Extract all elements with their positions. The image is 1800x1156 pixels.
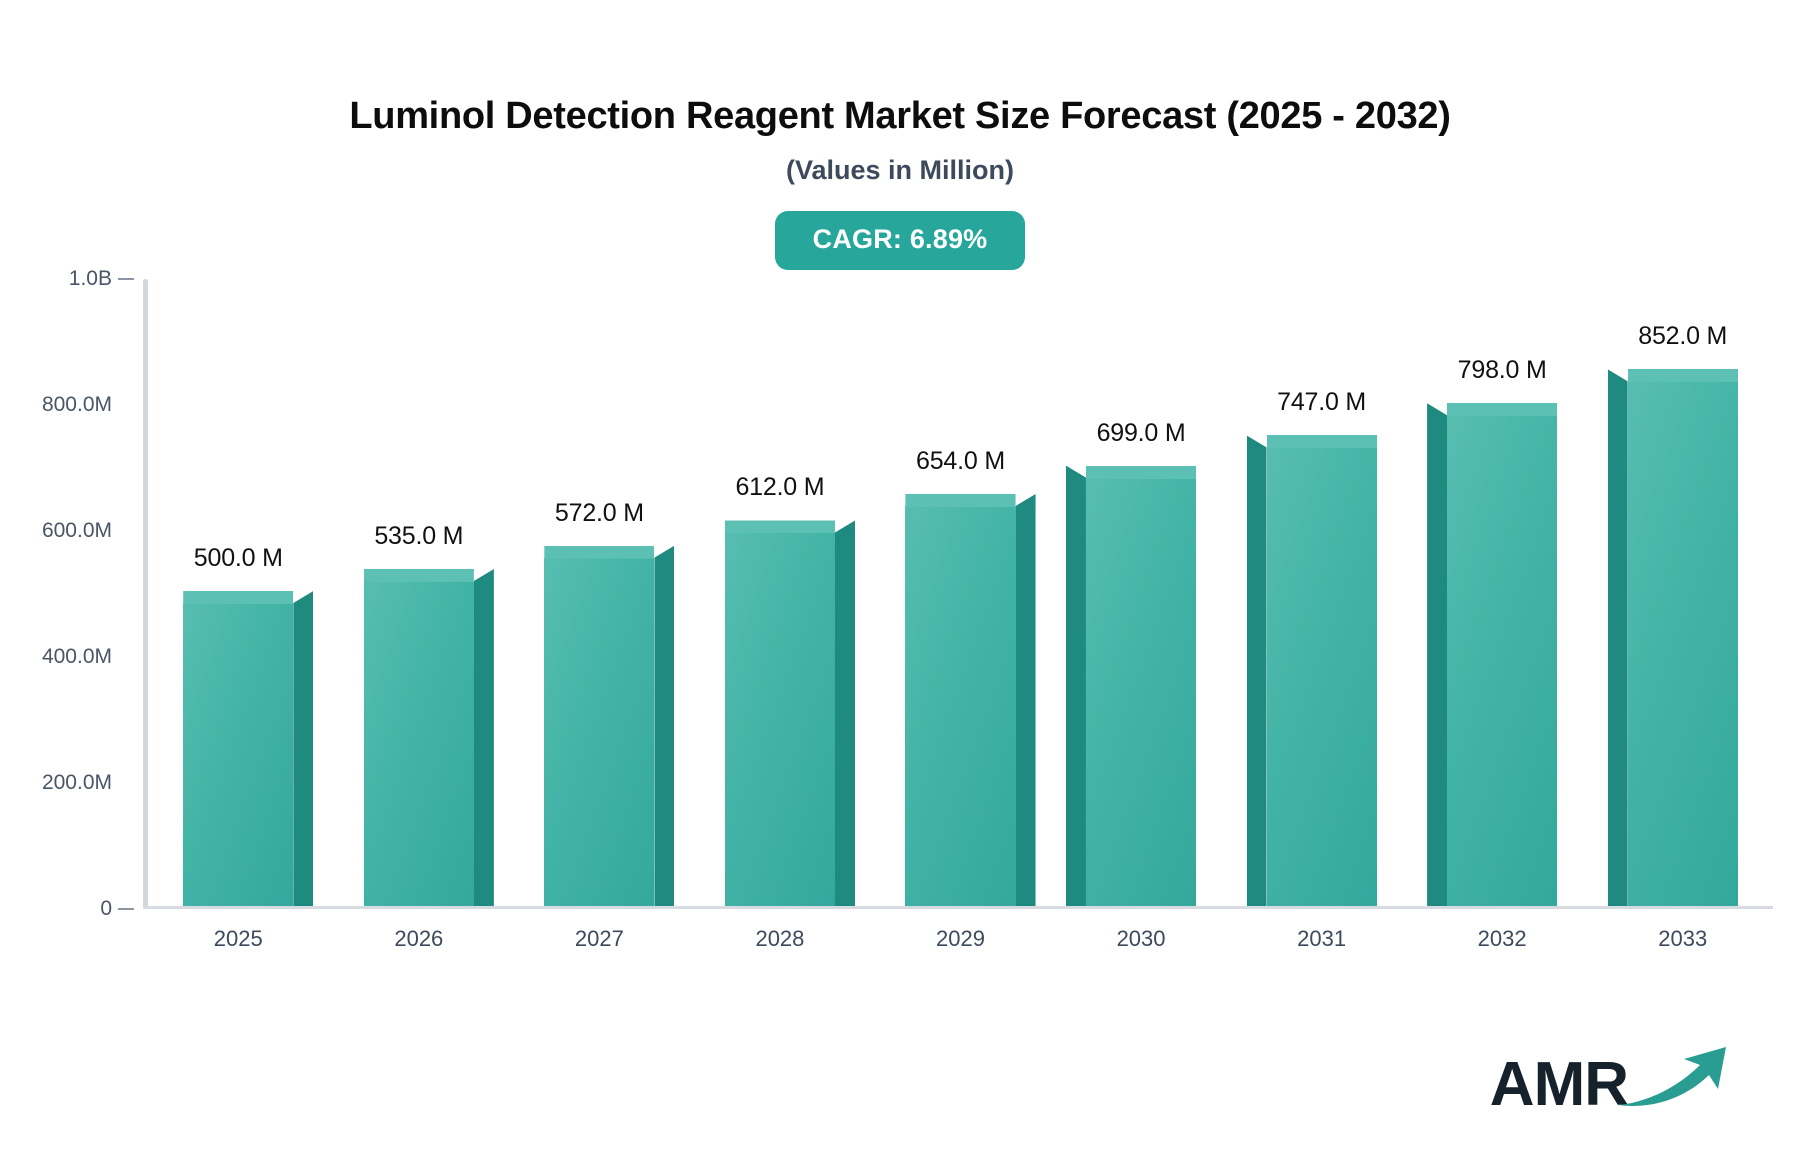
y-axis-tick-label: 800.0M xyxy=(0,393,112,417)
x-axis-labels: 202520262027202820292030203120322033 xyxy=(148,926,1773,966)
bar-group: 572.0 M xyxy=(509,276,690,906)
growth-arrow-icon xyxy=(1614,1043,1734,1114)
bar-side-face xyxy=(293,591,313,906)
y-axis-tick-label: 200.0M xyxy=(0,771,112,795)
bar-group: 500.0 M xyxy=(148,276,329,906)
bar-group: 852.0 M xyxy=(1592,276,1773,906)
bar-top-face xyxy=(364,569,474,582)
bar-side-face xyxy=(654,546,674,906)
x-axis-line xyxy=(143,906,1773,909)
bar[interactable] xyxy=(1628,369,1738,906)
bar-value-label: 699.0 M xyxy=(1097,419,1186,448)
bar-value-label: 747.0 M xyxy=(1277,388,1366,417)
chart-subtitle: (Values in Million) xyxy=(0,156,1800,186)
bar-side-face xyxy=(1016,494,1036,906)
bar-group: 747.0 M xyxy=(1231,276,1412,906)
bar[interactable] xyxy=(725,520,835,906)
bar[interactable] xyxy=(1447,403,1557,906)
bar-side-face xyxy=(1608,369,1628,906)
bar[interactable] xyxy=(905,494,1015,906)
bar[interactable] xyxy=(183,591,293,906)
bar-top-face xyxy=(1447,403,1557,416)
bar-value-label: 612.0 M xyxy=(735,473,824,502)
x-axis-tick-label: 2031 xyxy=(1297,926,1346,952)
y-axis-tick-mark xyxy=(118,278,134,280)
cagr-badge: CAGR: 6.89% xyxy=(775,211,1026,270)
cagr-badge-container: CAGR: 6.89% xyxy=(0,211,1800,270)
bar-front-face xyxy=(183,603,293,906)
amr-logo: AMR xyxy=(1490,1043,1734,1116)
bar-top-face xyxy=(905,494,1015,507)
bar-top-face xyxy=(183,591,293,604)
bar-front-face xyxy=(905,506,1015,906)
y-axis-tick-label: 0 xyxy=(0,897,112,921)
bar-top-face xyxy=(544,546,654,559)
bar-front-face xyxy=(1086,478,1196,906)
x-axis-tick-label: 2028 xyxy=(755,926,804,952)
x-axis-tick-label: 2032 xyxy=(1478,926,1527,952)
y-axis-tick-label: 1.0B xyxy=(0,267,112,291)
bar-value-label: 654.0 M xyxy=(916,447,1005,476)
bar-top-face xyxy=(1267,435,1377,448)
bar-value-label: 572.0 M xyxy=(555,499,644,528)
bar-front-face xyxy=(1447,415,1557,906)
bar[interactable] xyxy=(544,546,654,906)
bar-value-label: 852.0 M xyxy=(1638,322,1727,351)
bar-side-face xyxy=(1427,403,1447,906)
bar-value-label: 500.0 M xyxy=(194,544,283,573)
bar[interactable] xyxy=(1086,466,1196,906)
chart-header: Luminol Detection Reagent Market Size Fo… xyxy=(0,0,1800,185)
bar-group: 798.0 M xyxy=(1412,276,1593,906)
bar-side-face xyxy=(1066,466,1086,906)
x-axis-tick-label: 2027 xyxy=(575,926,624,952)
y-axis-tick-mark xyxy=(118,908,134,910)
chart-plot-area: 1.0B800.0M600.0M400.0M200.0M0 500.0 M535… xyxy=(0,276,1800,926)
bar-top-face xyxy=(725,520,835,533)
bar-group: 535.0 M xyxy=(329,276,510,906)
bar-front-face xyxy=(725,532,835,906)
bar[interactable] xyxy=(1267,435,1377,906)
bar-front-face xyxy=(544,558,654,906)
bar-group: 699.0 M xyxy=(1051,276,1232,906)
bar-group: 654.0 M xyxy=(870,276,1051,906)
bar-front-face xyxy=(1628,381,1738,906)
bar-value-label: 535.0 M xyxy=(374,522,463,551)
y-axis-tick-label: 600.0M xyxy=(0,519,112,543)
bars-container: 500.0 M535.0 M572.0 M612.0 M654.0 M699.0… xyxy=(148,276,1773,906)
bar-value-label: 798.0 M xyxy=(1458,356,1547,385)
bar-front-face xyxy=(364,581,474,906)
x-axis-tick-label: 2025 xyxy=(214,926,263,952)
x-axis-tick-label: 2030 xyxy=(1117,926,1166,952)
bar[interactable] xyxy=(364,569,474,906)
y-axis-tick-label: 400.0M xyxy=(0,645,112,669)
bar-top-face xyxy=(1628,369,1738,382)
page-title: Luminol Detection Reagent Market Size Fo… xyxy=(0,96,1800,138)
bar-front-face xyxy=(1267,447,1377,906)
bar-top-face xyxy=(1086,466,1196,479)
x-axis-tick-label: 2026 xyxy=(394,926,443,952)
x-axis-tick-label: 2029 xyxy=(936,926,985,952)
amr-logo-text: AMR xyxy=(1490,1054,1628,1116)
bar-side-face xyxy=(474,569,494,906)
bar-group: 612.0 M xyxy=(690,276,871,906)
bar-side-face xyxy=(835,520,855,906)
bar-side-face xyxy=(1247,435,1267,906)
x-axis-tick-label: 2033 xyxy=(1658,926,1707,952)
